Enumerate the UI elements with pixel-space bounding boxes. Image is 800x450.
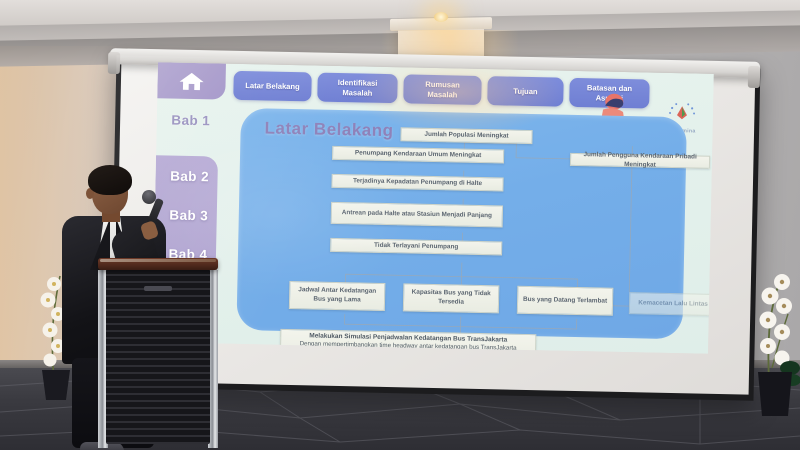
- presenter-hair: [88, 165, 132, 195]
- screen-roller-cap-right: [748, 66, 760, 88]
- podium-top-highlight: [100, 259, 216, 262]
- projected-slide: Bab 1 Bab 2 Bab 3 Bab 4 Bab 5 Latar Bela…: [152, 62, 714, 354]
- box-late-bus[interactable]: Bus yang Datang Terlambat: [517, 286, 614, 316]
- podium-front-panel: [106, 269, 210, 444]
- orchid-plant-right: [742, 268, 800, 418]
- podium: [98, 258, 218, 448]
- tab-tujuan[interactable]: Tujuan: [487, 76, 564, 107]
- screenshot-root: Bab 1 Bab 2 Bab 3 Bab 4 Bab 5 Latar Bela…: [0, 0, 800, 450]
- box-capacity[interactable]: Kapasitas Bus yang Tidak Tersedia: [403, 283, 500, 313]
- tab-latar-belakang[interactable]: Latar Belakang: [233, 71, 312, 102]
- home-button[interactable]: [157, 62, 226, 99]
- box-traffic[interactable]: Kemacetan Lalu Lintas: [629, 292, 714, 316]
- slide-tab-bar: Latar Belakang Identifikasi Masalah Rumu…: [233, 71, 650, 109]
- screen-roller-cap-left: [108, 52, 120, 74]
- box-private-vehicle[interactable]: Jumlah Pengguna Kendaraan Pribadi Mening…: [570, 153, 710, 169]
- box-population[interactable]: Jumlah Populasi Meningkat: [400, 127, 532, 144]
- box-schedule[interactable]: Jadwal Antar Kedatangan Bus yang Lama: [289, 281, 386, 311]
- sidebar-item-bab-1[interactable]: Bab 1: [157, 112, 225, 128]
- tab-identifikasi-masalah[interactable]: Identifikasi Masalah: [317, 73, 398, 104]
- box-queue[interactable]: Antrean pada Halte atau Stasiun Menjadi …: [331, 202, 503, 228]
- podium-emblem: [144, 286, 172, 291]
- sidebar-item-bab-3[interactable]: Bab 3: [155, 207, 223, 223]
- sidebar-item-bab-2[interactable]: Bab 2: [155, 168, 223, 184]
- home-icon: [177, 71, 205, 92]
- ceiling-spotlight-icon: [434, 12, 448, 22]
- tab-rumusan-masalah[interactable]: Rumusan Masalah: [403, 74, 482, 105]
- content-panel: Latar Belakang: [236, 108, 687, 339]
